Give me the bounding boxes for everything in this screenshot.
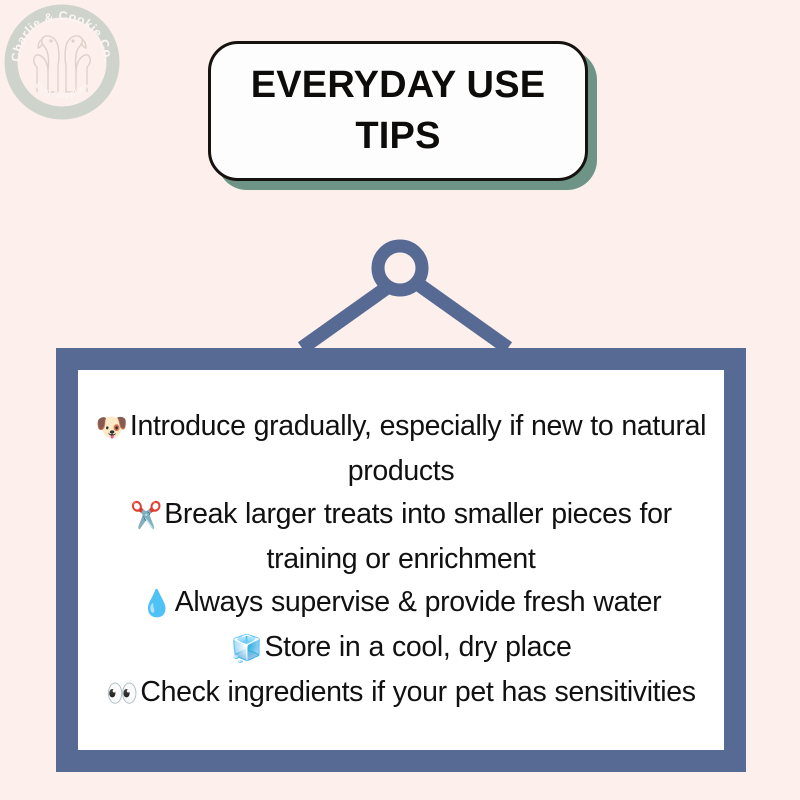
list-item: 💧Always supervise & provide fresh water [92, 581, 710, 626]
dog-face-icon: 🐶 [96, 413, 130, 443]
list-item: 👀Check ingredients if your pet has sensi… [92, 671, 710, 716]
brand-logo-watermark: Charlie & Cookie Co. Dog Supplies [4, 4, 120, 120]
sign-hanger [280, 232, 530, 362]
droplet-icon: 💧 [141, 589, 175, 619]
tip-text: Check ingredients if your pet has sensit… [140, 676, 695, 708]
tip-text: Store in a cool, dry place [264, 631, 571, 663]
list-item: 🧊Store in a cool, dry place [92, 626, 710, 671]
tips-signboard: 🐶Introduce gradually, especially if new … [56, 348, 746, 772]
page-title: EVERYDAY USE TIPS [229, 60, 568, 163]
poster-canvas: Charlie & Cookie Co. Dog Supplies EVERYD… [0, 0, 800, 800]
hanger-arm-right [418, 284, 508, 348]
title-banner: EVERYDAY USE TIPS [208, 41, 588, 181]
logo-brand-top: Charlie & Cookie Co. [9, 9, 115, 62]
ice-cube-icon: 🧊 [230, 634, 264, 664]
tip-text: Always supervise & provide fresh water [175, 586, 662, 618]
tip-text: Break larger treats into smaller pieces … [164, 498, 672, 575]
list-item: 🐶Introduce gradually, especially if new … [92, 405, 710, 493]
title-banner-card: EVERYDAY USE TIPS [208, 41, 588, 181]
logo-brand-bottom: Dog Supplies [33, 80, 90, 100]
tips-list: 🐶Introduce gradually, especially if new … [78, 405, 724, 716]
hanger-ring [378, 246, 422, 290]
svg-text:Dog Supplies: Dog Supplies [33, 80, 90, 100]
eyes-icon: 👀 [106, 679, 140, 709]
list-item: ✂️Break larger treats into smaller piece… [92, 493, 710, 581]
svg-text:Charlie & Cookie Co.: Charlie & Cookie Co. [9, 9, 115, 62]
scissors-icon: ✂️ [130, 501, 164, 531]
hanger-arm-left [302, 284, 392, 348]
tip-text: Introduce gradually, especially if new t… [130, 410, 706, 487]
